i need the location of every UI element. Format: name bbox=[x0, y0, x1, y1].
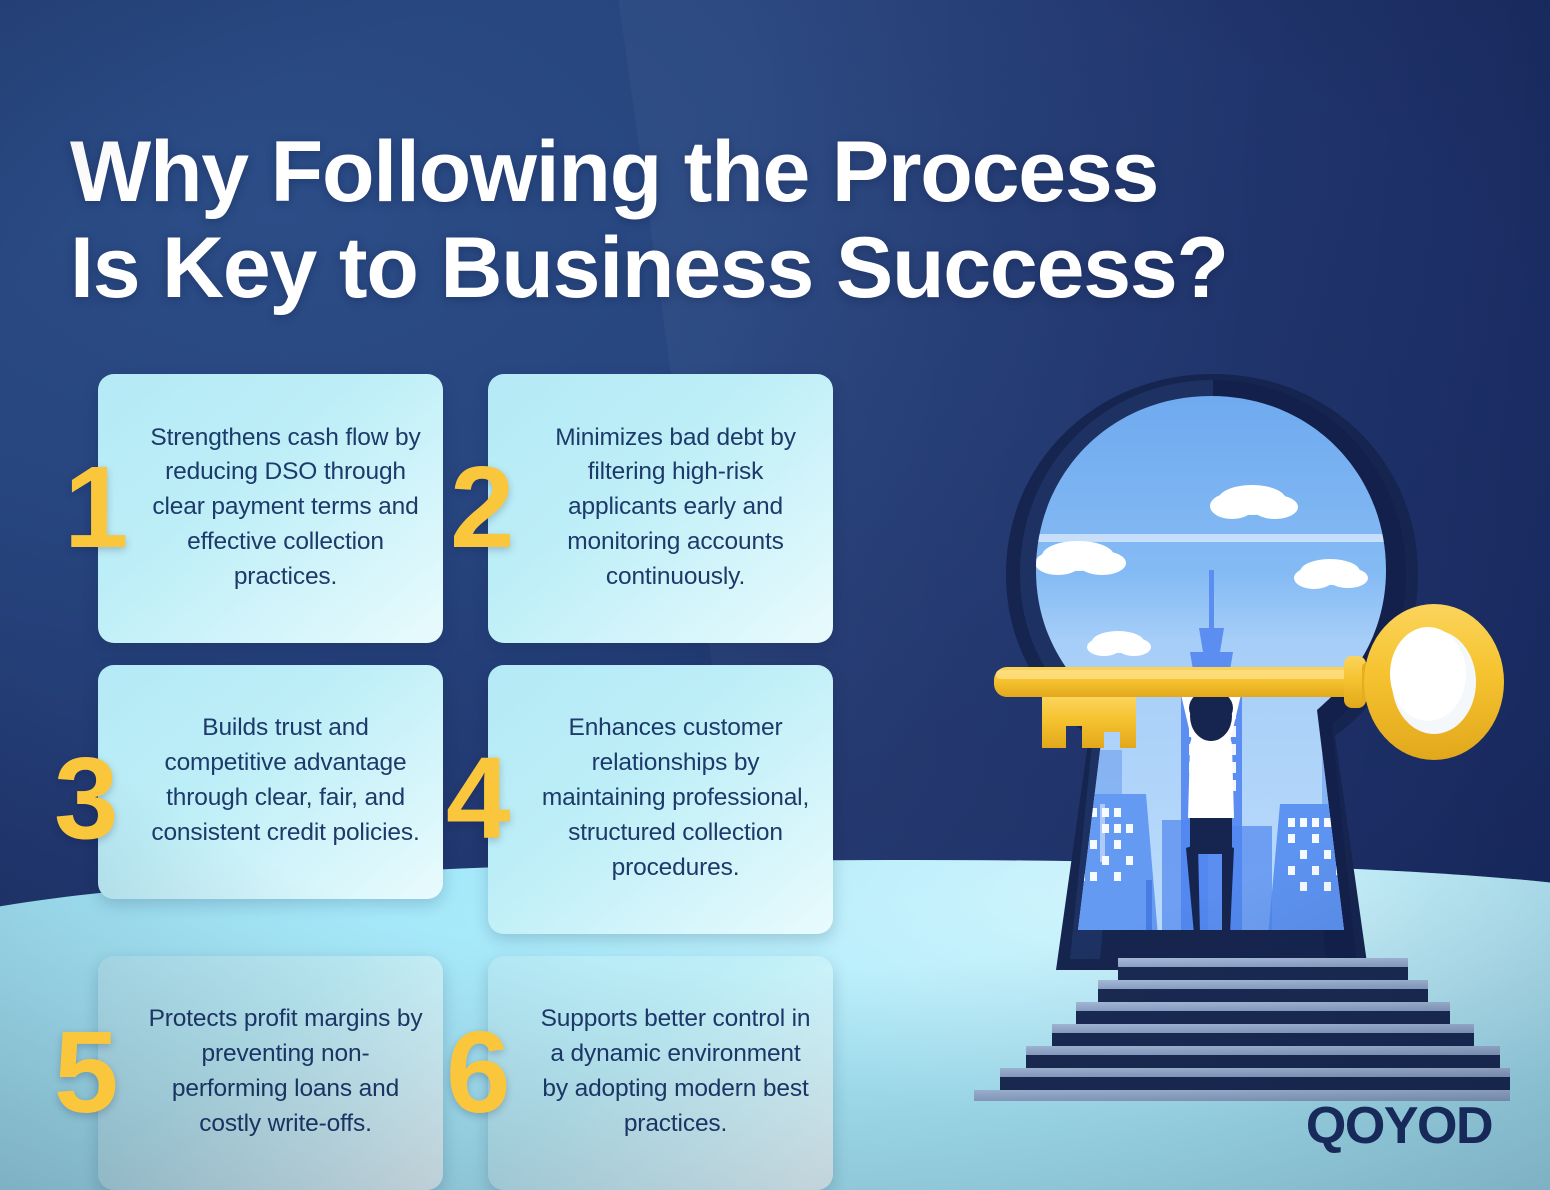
title-line-1: Why Following the Process bbox=[70, 124, 1500, 220]
card-row-3: 5 Protects profit margins by preventing … bbox=[98, 956, 838, 1190]
card-text-5: Protects profit margins by preventing no… bbox=[122, 1002, 423, 1141]
staircase bbox=[974, 958, 1510, 1101]
card-item-6[interactable]: 6 Supports better control in a dynamic e… bbox=[488, 956, 833, 1190]
card-body-3: Builds trust and competitive advantage t… bbox=[98, 665, 443, 899]
card-text-1: Strengthens cash flow by reducing DSO th… bbox=[122, 421, 423, 595]
card-number-2: 2 bbox=[450, 459, 511, 559]
card-text-4: Enhances customer relationships by maint… bbox=[512, 711, 813, 885]
card-item-5[interactable]: 5 Protects profit margins by preventing … bbox=[98, 956, 443, 1190]
card-number-4: 4 bbox=[446, 749, 507, 849]
card-text-3: Builds trust and competitive advantage t… bbox=[122, 711, 423, 850]
card-text-6: Supports better control in a dynamic env… bbox=[512, 1002, 813, 1141]
card-body-1: Strengthens cash flow by reducing DSO th… bbox=[98, 374, 443, 643]
card-item-3[interactable]: 3 Builds trust and competitive advantage… bbox=[98, 665, 443, 934]
keyhole-illustration bbox=[950, 374, 1510, 1104]
card-item-4[interactable]: 4 Enhances customer relationships by mai… bbox=[488, 665, 833, 934]
card-body-5: Protects profit margins by preventing no… bbox=[98, 956, 443, 1190]
card-item-1[interactable]: 1 Strengthens cash flow by reducing DSO … bbox=[98, 374, 443, 643]
logo-wordmark: QOYOD bbox=[1306, 1100, 1492, 1152]
card-number-6: 6 bbox=[446, 1023, 507, 1123]
card-number-5: 5 bbox=[54, 1023, 115, 1123]
page-title: Why Following the Process Is Key to Busi… bbox=[70, 124, 1500, 317]
benefit-card-grid: 1 Strengthens cash flow by reducing DSO … bbox=[98, 374, 838, 1190]
card-body-2: Minimizes bad debt by filtering high-ris… bbox=[488, 374, 833, 643]
card-row-1: 1 Strengthens cash flow by reducing DSO … bbox=[98, 374, 838, 643]
card-number-1: 1 bbox=[64, 459, 125, 559]
qoyod-logo[interactable]: QOYOD bbox=[1306, 1100, 1492, 1152]
title-line-2: Is Key to Business Success? bbox=[70, 220, 1500, 316]
card-row-2: 3 Builds trust and competitive advantage… bbox=[98, 665, 838, 934]
card-body-4: Enhances customer relationships by maint… bbox=[488, 665, 833, 934]
card-number-3: 3 bbox=[54, 749, 115, 849]
card-item-2[interactable]: 2 Minimizes bad debt by filtering high-r… bbox=[488, 374, 833, 643]
infographic-canvas: Why Following the Process Is Key to Busi… bbox=[0, 0, 1550, 1190]
card-text-2: Minimizes bad debt by filtering high-ris… bbox=[512, 421, 813, 595]
card-body-6: Supports better control in a dynamic env… bbox=[488, 956, 833, 1190]
